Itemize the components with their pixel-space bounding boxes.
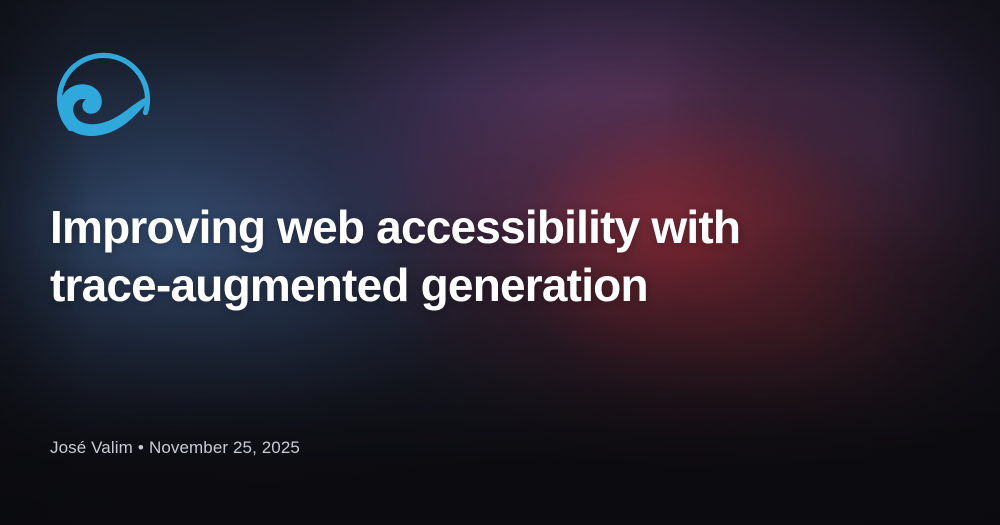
page-title-line-1: Improving web accessibility with <box>50 198 840 256</box>
byline-date: November 25, 2025 <box>149 438 300 457</box>
page-title-line-2: trace-augmented generation <box>50 256 840 314</box>
byline-separator: • <box>138 438 144 457</box>
card-content: Improving web accessibility with trace-a… <box>0 0 1000 525</box>
byline-author: José Valim <box>50 438 133 457</box>
wave-logo-icon <box>50 50 156 146</box>
blog-hero-card: Improving web accessibility with trace-a… <box>0 0 1000 525</box>
page-title: Improving web accessibility with trace-a… <box>50 198 840 314</box>
byline: José Valim•November 25, 2025 <box>50 438 300 458</box>
